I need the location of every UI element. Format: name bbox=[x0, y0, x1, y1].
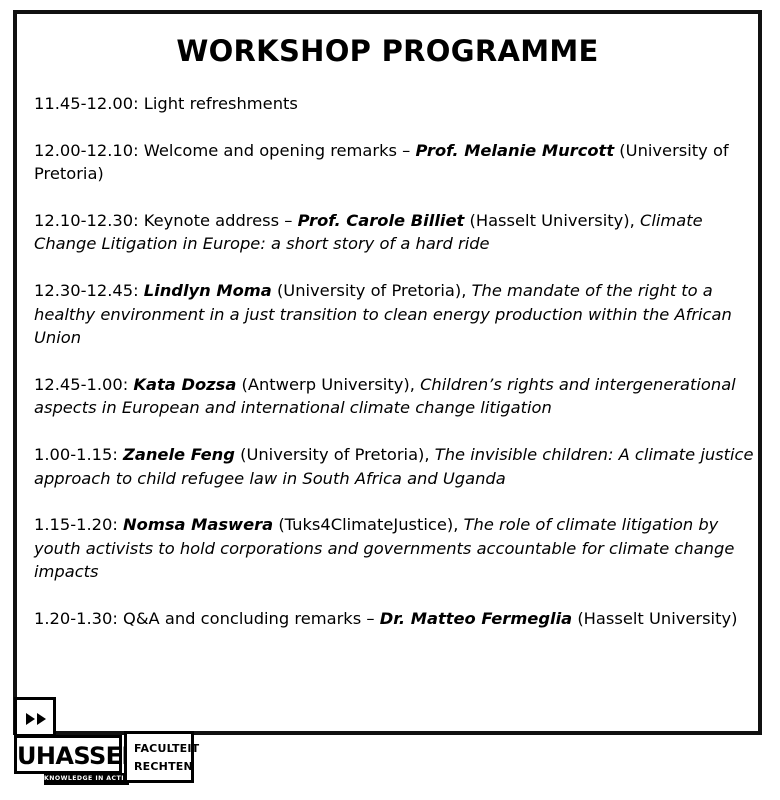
programme-entry: 1.00-1.15: Zanele Feng (University of Pr… bbox=[34, 443, 756, 490]
entry-speaker: Zanele Feng bbox=[123, 445, 235, 464]
entry-speaker: Nomsa Maswera bbox=[123, 515, 273, 534]
entry-time: 12.30-12.45: bbox=[34, 281, 144, 300]
entry-affiliation: (Tuks4ClimateJustice), bbox=[273, 515, 463, 534]
entry-lead: Light refreshments bbox=[144, 94, 298, 113]
entry-time: 1.15-1.20: bbox=[34, 515, 123, 534]
logo-wordmark-box: UHASSELT bbox=[14, 735, 122, 774]
logo-faculty-line-2: RECHTEN bbox=[134, 758, 191, 776]
programme-list: 11.45-12.00: Light refreshments12.00-12.… bbox=[34, 92, 756, 631]
programme-entry: 12.00-12.10: Welcome and opening remarks… bbox=[34, 139, 756, 186]
entry-speaker: Kata Dozsa bbox=[133, 375, 236, 394]
entry-affiliation: (Hasselt University) bbox=[572, 609, 737, 628]
programme-entry: 12.10-12.30: Keynote address – Prof. Car… bbox=[34, 209, 756, 256]
programme-entry: 11.45-12.00: Light refreshments bbox=[34, 92, 756, 116]
entry-time: 12.45-1.00: bbox=[34, 375, 133, 394]
entry-time: 12.00-12.10: bbox=[34, 141, 144, 160]
entry-speaker: Dr. Matteo Fermeglia bbox=[380, 609, 572, 628]
entry-lead: Q&A and concluding remarks – bbox=[123, 609, 380, 628]
logo-arrow-box bbox=[14, 697, 56, 737]
entry-lead: Keynote address – bbox=[144, 211, 298, 230]
entry-lead: Welcome and opening remarks – bbox=[144, 141, 416, 160]
programme-entry: 12.30-12.45: Lindlyn Moma (University of… bbox=[34, 279, 756, 350]
programme-entry: 12.45-1.00: Kata Dozsa (Antwerp Universi… bbox=[34, 373, 756, 420]
poster-canvas: WORKSHOP PROGRAMME 11.45-12.00: Light re… bbox=[0, 0, 780, 800]
logo-faculty-line-1: FACULTEIT bbox=[134, 740, 191, 758]
entry-time: 1.00-1.15: bbox=[34, 445, 123, 464]
uhasselt-logo: UHASSELT KNOWLEDGE IN ACTION FACULTEIT R… bbox=[14, 697, 194, 785]
logo-faculty-box: FACULTEIT RECHTEN bbox=[124, 731, 194, 783]
logo-tagline: KNOWLEDGE IN ACTION bbox=[44, 773, 129, 785]
entry-speaker: Prof. Carole Billiet bbox=[298, 211, 465, 230]
poster-frame: WORKSHOP PROGRAMME 11.45-12.00: Light re… bbox=[13, 10, 762, 735]
double-chevron-right-icon bbox=[26, 713, 52, 726]
logo-wordmark: UHASSELT bbox=[17, 743, 119, 769]
entry-affiliation: (Hasselt University), bbox=[464, 211, 640, 230]
programme-entry: 1.20-1.30: Q&A and concluding remarks – … bbox=[34, 607, 756, 631]
page-title: WORKSHOP PROGRAMME bbox=[17, 36, 758, 68]
entry-time: 1.20-1.30: bbox=[34, 609, 123, 628]
chevron-right-icon-2 bbox=[37, 713, 46, 725]
entry-affiliation: (Antwerp University), bbox=[236, 375, 420, 394]
entry-affiliation: (University of Pretoria), bbox=[235, 445, 435, 464]
entry-speaker: Prof. Melanie Murcott bbox=[416, 141, 615, 160]
entry-time: 11.45-12.00: bbox=[34, 94, 144, 113]
programme-entry: 1.15-1.20: Nomsa Maswera (Tuks4ClimateJu… bbox=[34, 513, 756, 584]
entry-affiliation: (University of Pretoria), bbox=[272, 281, 472, 300]
entry-speaker: Lindlyn Moma bbox=[144, 281, 272, 300]
chevron-right-icon-1 bbox=[26, 713, 35, 725]
entry-time: 12.10-12.30: bbox=[34, 211, 144, 230]
